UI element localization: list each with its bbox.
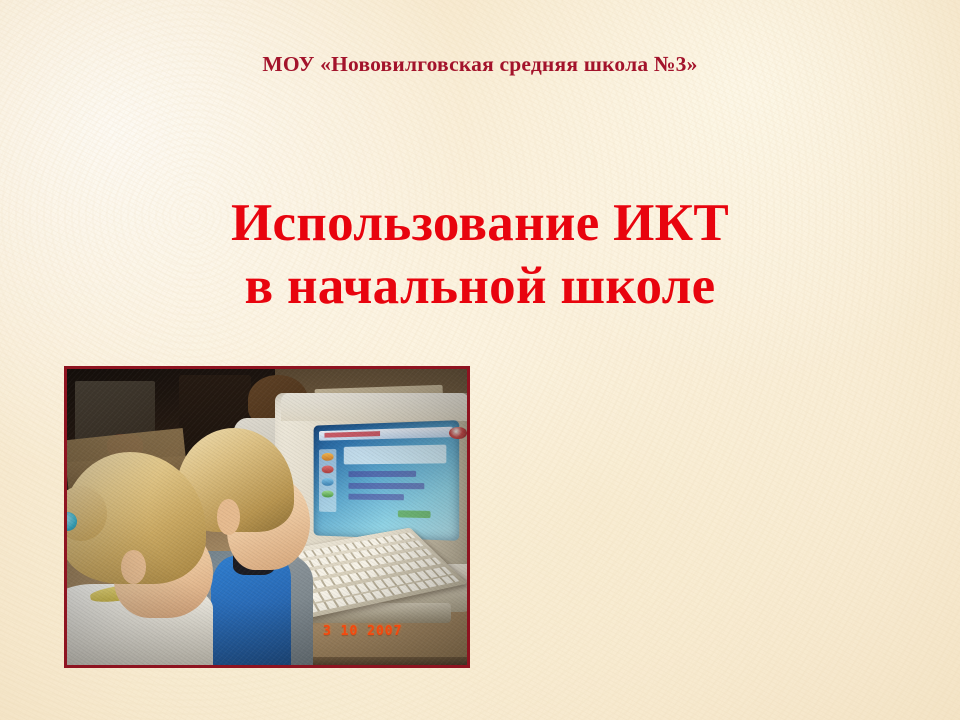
screen-icon-1 [322, 453, 333, 461]
title-line-2: в начальной школе [0, 255, 960, 318]
monitor-power-badge [449, 427, 467, 440]
classroom-photo: 3 10 2007 [64, 366, 470, 668]
screen-icon-2 [322, 466, 333, 474]
girl-ear [121, 550, 146, 584]
girl-at-computer [67, 452, 227, 665]
camera-timestamp: 3 10 2007 [323, 624, 402, 639]
screen-text-line-3 [349, 494, 404, 500]
monitor-screen [314, 420, 460, 541]
screen-text-line-2 [349, 483, 425, 489]
screen-panel [343, 445, 446, 465]
screen-green-button [398, 511, 431, 519]
screen-text-line-1 [349, 471, 416, 477]
presentation-slide: МОУ «Нововилговская средняя школа №3» Ис… [0, 0, 960, 720]
school-name-header: МОУ «Нововилговская средняя школа №3» [0, 52, 960, 77]
screen-icon-4 [322, 491, 333, 499]
monitor-hood [281, 393, 467, 422]
screen-icon-3 [322, 478, 333, 485]
title-line-1: Использование ИКТ [0, 192, 960, 255]
page-title: Использование ИКТ в начальной школе [0, 192, 960, 318]
photo-content: 3 10 2007 [67, 369, 467, 665]
